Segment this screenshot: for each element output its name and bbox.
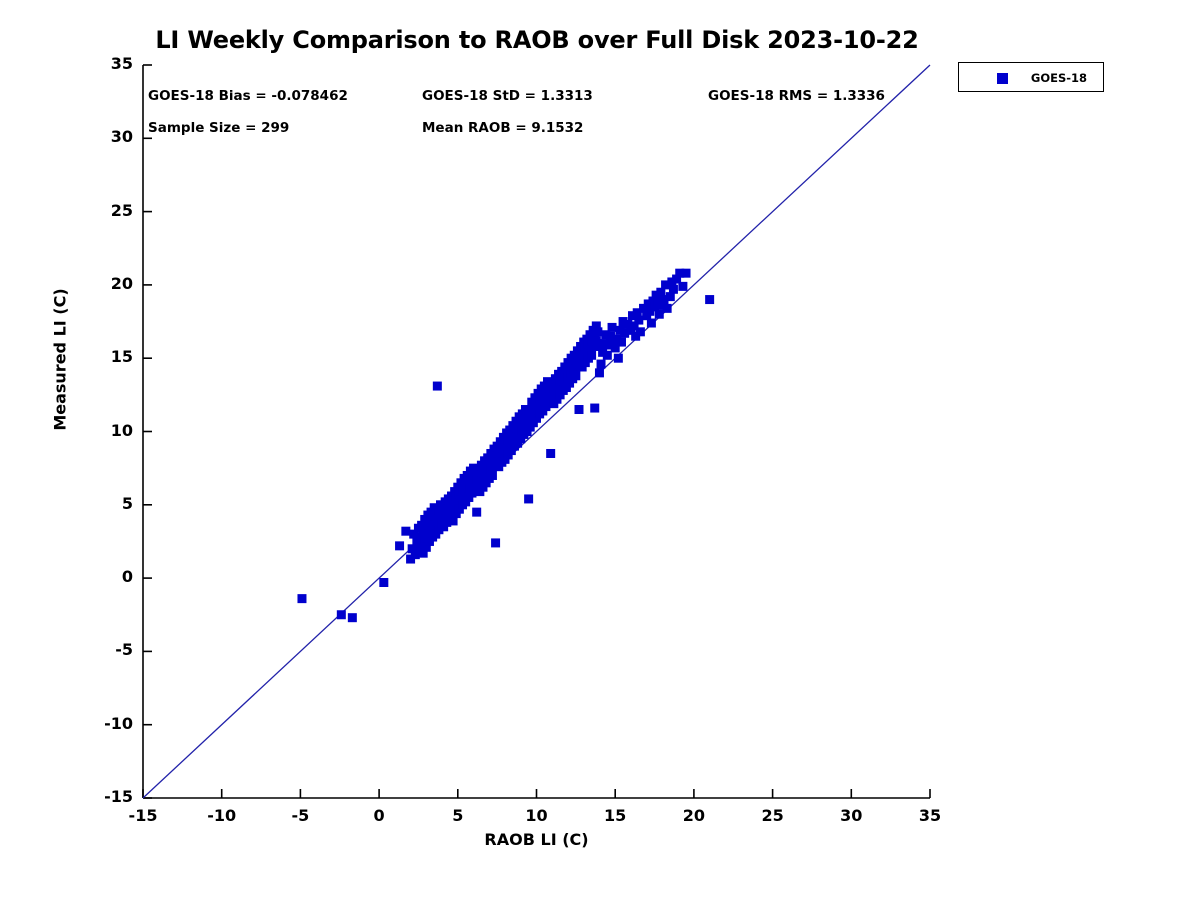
reference-line-1to1 <box>143 65 930 798</box>
x-tick-label: 15 <box>580 806 650 825</box>
y-tick-label: -10 <box>73 714 133 733</box>
x-tick-label: 20 <box>659 806 729 825</box>
plot-area <box>0 0 1200 900</box>
legend-label-goes18: GOES-18 <box>1019 71 1099 85</box>
scatter-point <box>634 316 643 325</box>
y-tick-label: 30 <box>73 127 133 146</box>
y-axis-title: Measured LI (C) <box>51 260 70 460</box>
scatter-point <box>590 404 599 413</box>
legend-swatch-goes18 <box>997 73 1008 84</box>
scatter-point <box>647 319 656 328</box>
y-tick-label: 0 <box>73 567 133 586</box>
scatter-point <box>546 449 555 458</box>
y-tick-label: 15 <box>73 347 133 366</box>
scatter-point <box>663 304 672 313</box>
scatter-points <box>297 269 714 623</box>
legend: GOES-18 <box>958 62 1104 92</box>
scatter-point <box>593 327 602 336</box>
scatter-point <box>597 360 606 369</box>
scatter-point <box>401 527 410 536</box>
scatter-point <box>608 323 617 332</box>
x-tick-label: 5 <box>423 806 493 825</box>
scatter-point <box>603 351 612 360</box>
y-tick-label: 5 <box>73 494 133 513</box>
scatter-point <box>337 610 346 619</box>
scatter-point <box>705 295 714 304</box>
scatter-point <box>348 613 357 622</box>
scatter-point <box>571 371 580 380</box>
scatter-point <box>472 508 481 517</box>
y-tick-label: -5 <box>73 640 133 659</box>
scatter-point <box>636 327 645 336</box>
y-tick-label: -15 <box>73 787 133 806</box>
x-tick-label: 30 <box>816 806 886 825</box>
scatter-point <box>491 538 500 547</box>
y-tick-label: 25 <box>73 201 133 220</box>
scatter-point <box>524 494 533 503</box>
y-tick-label: 20 <box>73 274 133 293</box>
x-tick-label: 10 <box>502 806 572 825</box>
scatter-point <box>669 285 678 294</box>
y-tick-label: 10 <box>73 421 133 440</box>
scatter-point <box>617 338 626 347</box>
x-tick-label: 0 <box>344 806 414 825</box>
scatter-point <box>297 594 306 603</box>
scatter-point <box>574 405 583 414</box>
scatter-point <box>655 310 664 319</box>
scatter-point <box>587 351 596 360</box>
x-tick-label: 25 <box>738 806 808 825</box>
chart-figure: LI Weekly Comparison to RAOB over Full D… <box>0 0 1200 900</box>
scatter-point <box>682 269 691 278</box>
x-tick-label: -5 <box>265 806 335 825</box>
scatter-point <box>488 471 497 480</box>
x-tick-label: -15 <box>108 806 178 825</box>
scatter-point <box>379 578 388 587</box>
scatter-point <box>595 368 604 377</box>
scatter-point <box>614 354 623 363</box>
x-tick-label: -10 <box>187 806 257 825</box>
scatter-point <box>678 282 687 291</box>
scatter-point <box>395 541 404 550</box>
x-axis-title: RAOB LI (C) <box>143 830 930 849</box>
y-tick-label: 35 <box>73 54 133 73</box>
x-tick-label: 35 <box>895 806 965 825</box>
scatter-point <box>433 382 442 391</box>
